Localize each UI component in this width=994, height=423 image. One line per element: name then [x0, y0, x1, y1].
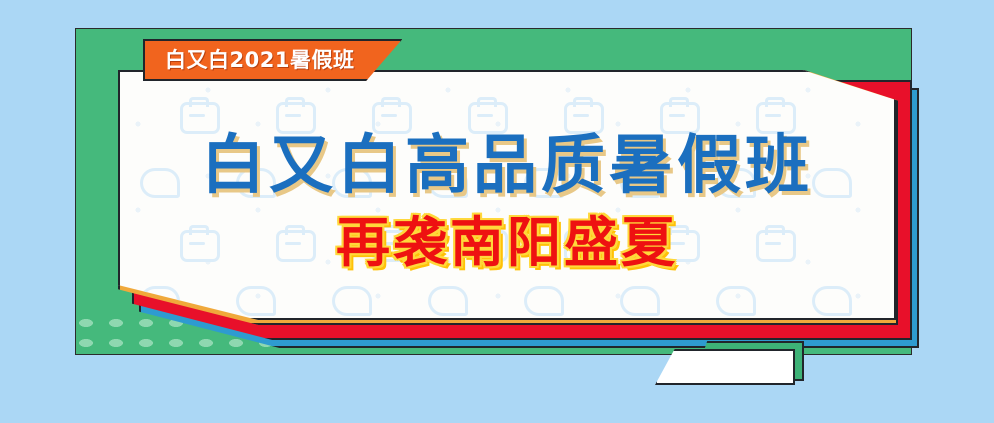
watermark-tag-icon — [468, 102, 508, 134]
watermark-tag-icon — [180, 230, 220, 262]
watermark-swirl-icon — [620, 286, 660, 316]
watermark-swirl-icon — [332, 286, 372, 316]
watermark-swirl-icon — [524, 286, 564, 316]
watermark-swirl-icon — [812, 168, 852, 198]
watermark-swirl-icon — [236, 286, 276, 316]
watermark-swirl-icon — [236, 168, 276, 198]
promo-banner: 白又白高品质暑假班 再袭南阳盛夏 白又白2021暑假班 — [0, 0, 994, 423]
watermark-tag-icon — [276, 102, 316, 134]
watermark-swirl-icon — [332, 168, 372, 198]
watermark-tag-icon — [372, 230, 412, 262]
watermark-swirl-icon — [716, 168, 756, 198]
white-content-card — [118, 70, 896, 320]
watermark-tag-icon — [564, 230, 604, 262]
watermark-swirl-icon — [620, 168, 660, 198]
watermark-swirl-icon — [812, 286, 852, 316]
watermark-tag-icon — [660, 230, 700, 262]
watermark-row — [140, 286, 852, 316]
watermark-swirl-icon — [524, 168, 564, 198]
watermark-tag-icon — [276, 230, 316, 262]
watermark-tag-icon — [564, 102, 604, 134]
watermark-tag-icon — [372, 102, 412, 134]
decor-parallelogram-white — [655, 349, 795, 385]
watermark-row — [180, 102, 796, 134]
watermark-swirl-icon — [428, 168, 468, 198]
ribbon-tag-label: 白又白2021暑假班 — [165, 50, 354, 71]
ribbon-tag: 白又白2021暑假班 — [143, 39, 402, 81]
watermark-tag-icon — [756, 230, 796, 262]
watermark-row — [180, 230, 796, 262]
watermark-swirl-icon — [716, 286, 756, 316]
watermark-swirl-icon — [140, 168, 180, 198]
watermark-tag-icon — [180, 102, 220, 134]
watermark-swirl-icon — [428, 286, 468, 316]
watermark-row — [140, 168, 852, 198]
watermark-tag-icon — [756, 102, 796, 134]
watermark-tag-icon — [468, 230, 508, 262]
watermark-tag-icon — [660, 102, 700, 134]
